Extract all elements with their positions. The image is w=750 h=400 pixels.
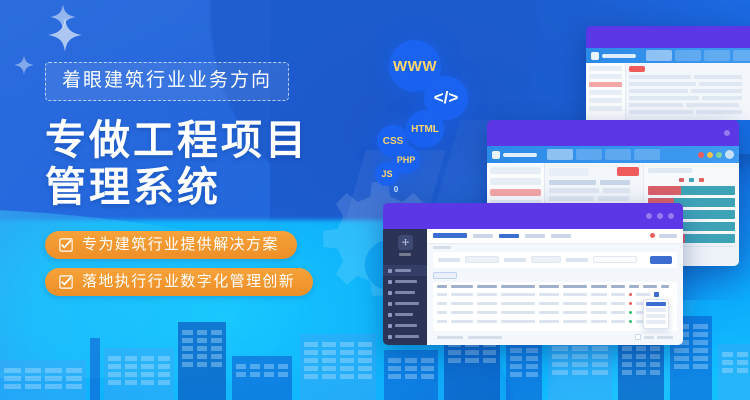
row-context-menu[interactable] <box>643 299 669 329</box>
building <box>104 348 174 400</box>
feature-pill-1-label: 专为建筑行业提供解决方案 <box>82 237 279 252</box>
menu-icon <box>388 313 392 317</box>
status-badge <box>629 311 632 314</box>
legend-item-1 <box>679 178 684 182</box>
project-topbar <box>427 229 683 244</box>
sidebar-item-6[interactable] <box>383 320 427 331</box>
statistics-app-header <box>487 146 739 163</box>
app-logo-icon <box>398 235 413 250</box>
table-row <box>629 89 750 93</box>
sidebar-item-5[interactable] <box>383 309 427 320</box>
table-row <box>549 196 639 201</box>
ok-icon[interactable] <box>716 152 722 158</box>
sparkle-icon <box>48 18 82 52</box>
banner-stage: WWW </> HTML CSS PHP JS 0 <box>0 0 750 400</box>
bubble-php-label: PHP <box>397 155 416 165</box>
chart-bar-segment <box>648 186 681 195</box>
tree-item-selected[interactable] <box>490 189 541 196</box>
table-row[interactable] <box>437 292 673 297</box>
user-menu[interactable] <box>659 234 677 238</box>
building <box>0 360 86 400</box>
add-button[interactable] <box>433 272 457 279</box>
table-header <box>549 180 639 185</box>
table-row[interactable] <box>437 310 673 315</box>
records-window-body <box>586 48 750 120</box>
building <box>618 338 664 400</box>
project-table <box>433 282 677 331</box>
checkbox-icon <box>59 275 73 289</box>
records-window-titlebar <box>586 26 750 48</box>
building <box>90 338 100 400</box>
building <box>506 340 542 400</box>
logo-icon <box>492 151 500 159</box>
statistics-tab-2[interactable] <box>576 149 602 160</box>
project-filter-bar[interactable] <box>433 252 677 268</box>
table-row <box>629 103 750 107</box>
table-footer <box>427 331 683 345</box>
records-main <box>586 63 750 120</box>
search-button[interactable] <box>650 256 672 264</box>
project-window-main <box>383 229 683 345</box>
chart-bar-segment <box>674 198 735 207</box>
pagination[interactable] <box>635 334 673 340</box>
search-input[interactable] <box>593 256 637 263</box>
warning-icon[interactable] <box>707 152 713 158</box>
chart-legend <box>648 178 735 182</box>
menu-icon <box>388 291 392 295</box>
records-tab-1[interactable] <box>646 50 672 61</box>
statistics-toolbar[interactable] <box>549 167 639 176</box>
topbar-actions[interactable] <box>650 233 677 238</box>
checkbox-icon <box>59 238 73 252</box>
window-dots <box>724 130 730 136</box>
chart-bar-segment <box>685 234 735 243</box>
row-action-icon[interactable] <box>654 292 659 297</box>
export-button[interactable] <box>617 167 639 176</box>
bubble-html: HTML <box>406 110 444 148</box>
alert-icon[interactable] <box>698 152 704 158</box>
banner-copy: 着眼建筑行业业务方向 专做工程项目 管理系统 专为建筑行业提供解决方案 <box>45 62 345 305</box>
sidebar-item-1[interactable] <box>383 265 427 276</box>
filter-label-1 <box>438 258 460 262</box>
logo-icon <box>591 52 599 60</box>
building <box>300 334 376 400</box>
menu-icon <box>388 280 392 284</box>
sidebar-item-2[interactable] <box>383 276 427 287</box>
table-header <box>437 285 673 288</box>
chart-bar-segment <box>681 186 735 195</box>
table-row <box>629 75 750 79</box>
context-menu-item-4[interactable] <box>646 320 666 324</box>
statistics-tab-3[interactable] <box>605 149 631 160</box>
sidebar-item-3[interactable] <box>383 287 427 298</box>
filter-select-1[interactable] <box>465 256 499 263</box>
context-menu-item-3[interactable] <box>646 314 666 318</box>
page-title: 专做工程项目 管理系统 <box>45 117 345 210</box>
status-badge <box>629 302 632 305</box>
table-row[interactable] <box>437 319 673 324</box>
records-app-header <box>586 48 750 63</box>
feature-pill-2-label: 落地执行行业数字化管理创新 <box>82 274 295 289</box>
records-tab-2[interactable] <box>675 50 701 61</box>
tree-item[interactable] <box>589 66 622 71</box>
status-badge <box>629 320 632 323</box>
sidebar-item-7[interactable] <box>383 331 427 342</box>
breadcrumb <box>427 244 683 252</box>
statistics-tabs[interactable] <box>547 149 660 160</box>
notification-icon[interactable] <box>650 233 655 238</box>
tree-item-selected[interactable] <box>589 82 622 87</box>
bubble-js-label: JS <box>381 169 392 179</box>
statistics-window-titlebar <box>487 120 739 146</box>
statistics-tab-4[interactable] <box>634 149 660 160</box>
tree-item[interactable] <box>589 90 622 95</box>
menu-icon <box>388 335 392 339</box>
filter-label-3 <box>566 258 588 262</box>
table-row[interactable] <box>437 301 673 306</box>
statistics-header-actions[interactable] <box>698 150 734 159</box>
tagline-text: 着眼建筑行业业务方向 <box>62 70 272 91</box>
building <box>384 350 438 400</box>
filter-label-2 <box>504 258 526 262</box>
chart-title <box>648 168 692 173</box>
bubble-code-label: </> <box>434 88 459 108</box>
menu-icon <box>388 269 392 273</box>
feature-pills: 专为建筑行业提供解决方案 落地执行行业数字化管理创新 <box>45 231 345 296</box>
topbar-tab-3[interactable] <box>525 234 545 238</box>
avatar[interactable] <box>725 150 734 159</box>
records-brand <box>591 52 636 60</box>
chart-bar-row <box>648 186 735 195</box>
footer-text <box>437 336 463 339</box>
project-list-window[interactable] <box>383 203 683 345</box>
feature-pill-2[interactable]: 落地执行行业数字化管理创新 <box>45 268 313 296</box>
feature-pill-1[interactable]: 专为建筑行业提供解决方案 <box>45 231 297 259</box>
records-action-button[interactable] <box>629 66 645 72</box>
sparkle-icon <box>14 55 34 75</box>
bubble-www-label: WWW <box>393 58 437 75</box>
tree-item[interactable] <box>490 167 541 174</box>
headline-line-2: 管理系统 <box>45 164 345 211</box>
tree-item[interactable] <box>589 98 622 103</box>
menu-icon <box>388 324 392 328</box>
table-row <box>629 82 750 86</box>
table-row <box>629 110 750 114</box>
table-row <box>629 96 750 100</box>
building <box>178 322 226 400</box>
project-brand <box>433 233 467 238</box>
context-menu-item-1[interactable] <box>646 302 666 306</box>
records-tabs[interactable] <box>646 50 750 61</box>
filter-field[interactable] <box>549 168 589 176</box>
bubble-zero: 0 <box>387 180 405 198</box>
bubble-css-label: CSS <box>383 136 404 147</box>
project-sidebar[interactable] <box>383 229 427 345</box>
page-size-label <box>657 336 673 339</box>
tree-item[interactable] <box>589 106 622 111</box>
bubble-zero-label: 0 <box>394 185 398 194</box>
menu-icon <box>388 302 392 306</box>
filter-select-2[interactable] <box>531 256 561 263</box>
building <box>232 356 292 400</box>
records-tab-4[interactable] <box>733 50 750 61</box>
topbar-tab-4[interactable] <box>551 234 571 238</box>
tagline-box: 着眼建筑行业业务方向 <box>45 62 289 101</box>
footer-text-2 <box>468 336 502 339</box>
project-window-titlebar <box>383 203 683 229</box>
context-menu-item-2[interactable] <box>646 308 666 312</box>
legend-item-3 <box>699 178 704 182</box>
table-row <box>549 188 639 193</box>
chart-bar-segment <box>678 210 735 219</box>
bubble-html-label: HTML <box>411 124 439 135</box>
tree-item[interactable] <box>589 74 622 79</box>
statistics-brand <box>492 151 537 159</box>
sidebar-item-4[interactable] <box>383 298 427 309</box>
page-label <box>644 336 654 339</box>
legend-item-2 <box>689 178 694 182</box>
status-badge <box>629 293 632 296</box>
app-logo-text <box>399 253 411 256</box>
tree-item[interactable] <box>490 178 541 185</box>
page-button-1[interactable] <box>635 334 641 340</box>
headline-line-1: 专做工程项目 <box>45 117 345 164</box>
window-dots <box>646 213 674 219</box>
records-tree[interactable] <box>586 63 626 120</box>
records-table <box>626 63 750 120</box>
records-tab-3[interactable] <box>704 50 730 61</box>
building <box>718 344 750 400</box>
topbar-tab-1[interactable] <box>473 234 493 238</box>
topbar-tab-2[interactable] <box>499 234 519 238</box>
statistics-tab-1[interactable] <box>547 149 573 160</box>
